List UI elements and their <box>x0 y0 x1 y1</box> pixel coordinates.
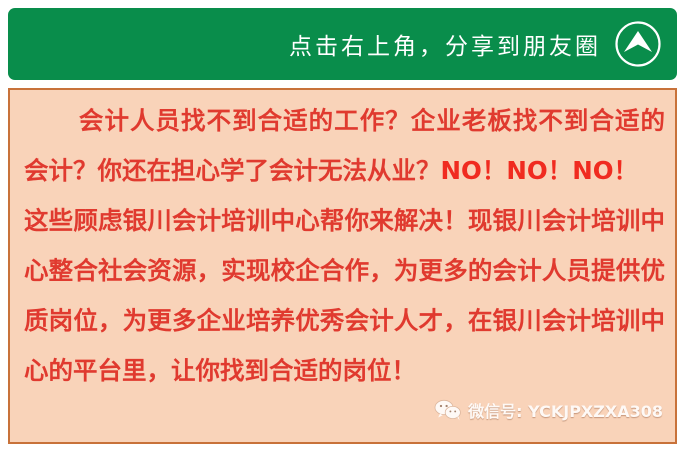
wechat-id-label: 微信号: YCKJPXZXA308 <box>468 398 663 422</box>
promo-image-root: 点击右上角，分享到朋友圈 会计人员找不到合适的工作？企业老板找不到合适的会计？你… <box>0 0 685 452</box>
promo-emphasis-no: NO！NO！NO！ <box>441 156 639 185</box>
share-banner-label: 点击右上角，分享到朋友圈 <box>289 27 601 61</box>
wechat-icon <box>434 399 462 421</box>
share-banner[interactable]: 点击右上角，分享到朋友圈 <box>8 8 677 80</box>
promo-paragraph: 会计人员找不到合适的工作？企业老板找不到合适的会计？你还在担心学了会计无法从业？… <box>24 96 665 396</box>
content-card: 会计人员找不到合适的工作？企业老板找不到合适的会计？你还在担心学了会计无法从业？… <box>8 88 677 444</box>
wechat-watermark: 微信号: YCKJPXZXA308 <box>434 398 663 422</box>
promo-line-3: 这些顾虑银川会计培训中心帮你来解决！现银川会计培训中心整合社会资源，实现校企合作… <box>24 206 665 385</box>
arrow-up-circle-icon <box>613 19 663 69</box>
